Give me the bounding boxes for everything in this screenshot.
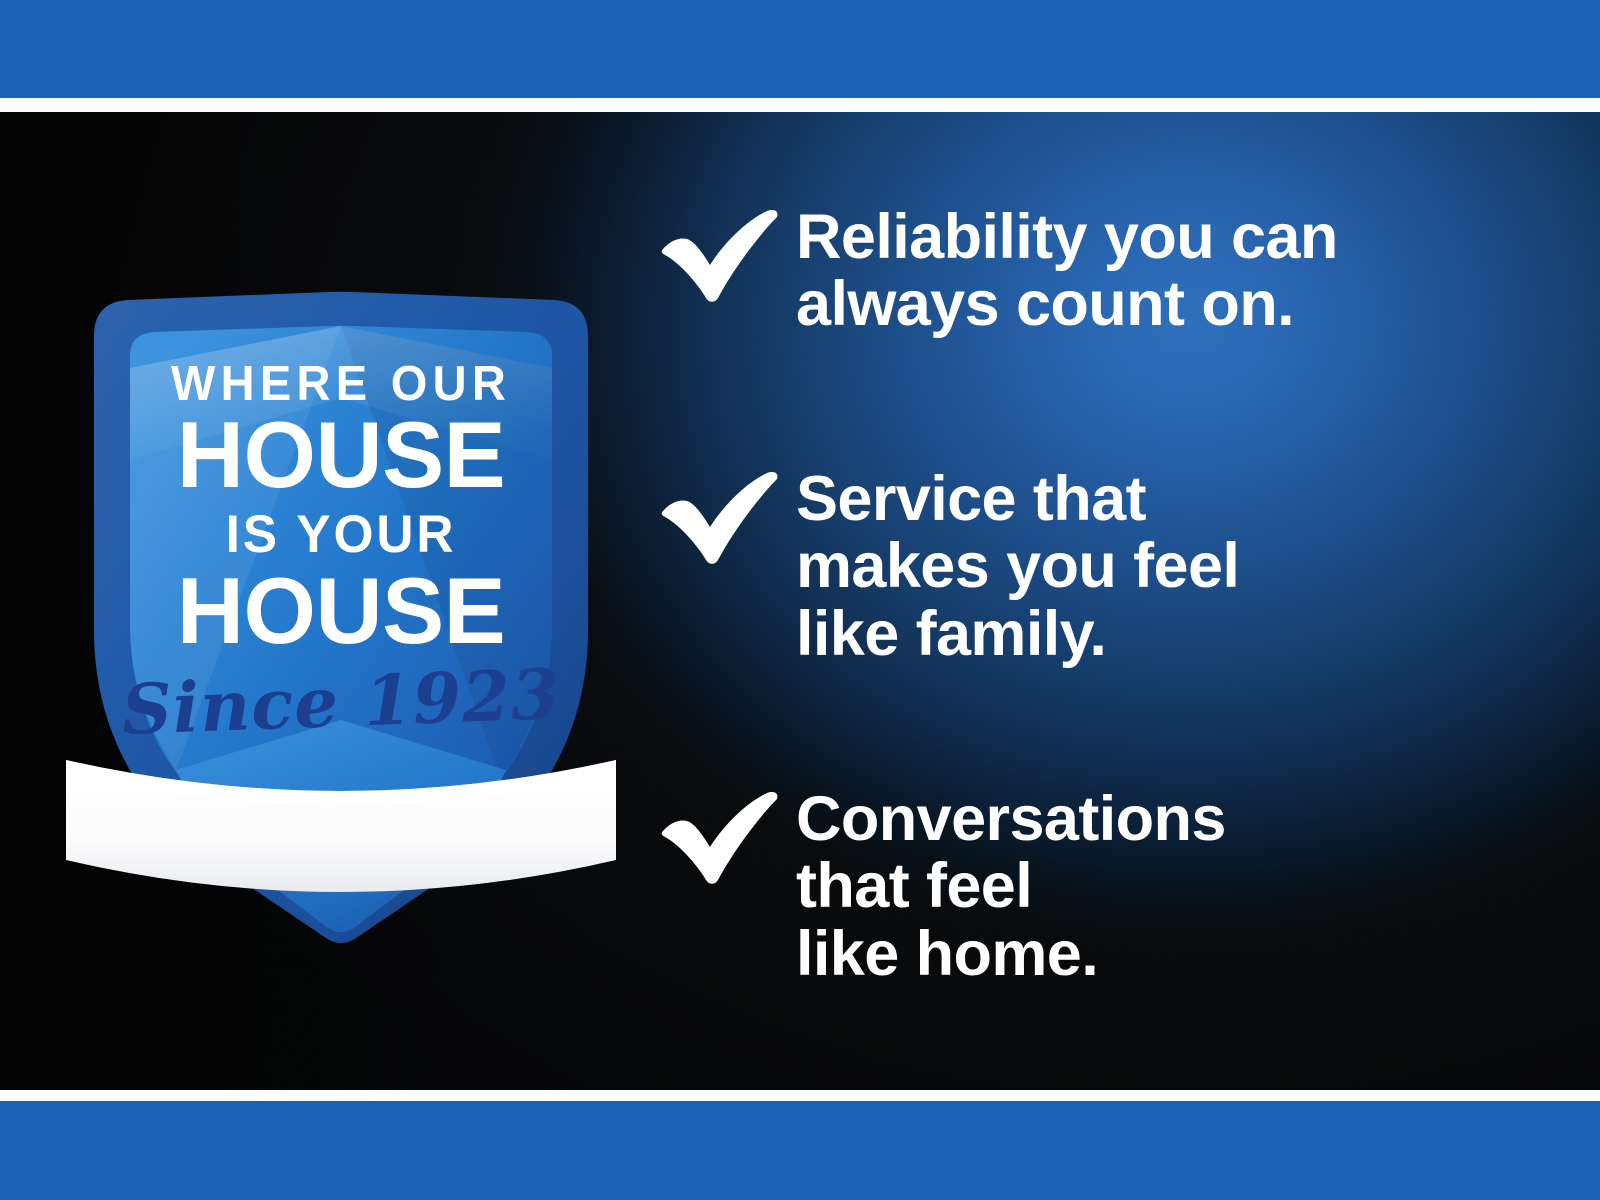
- check-icon: [660, 784, 796, 886]
- benefit-text: Conversations that feel like home.: [796, 784, 1226, 988]
- benefit-text: Reliability you can always count on.: [796, 202, 1338, 339]
- logo-tagline-line-3: IS YOUR: [65, 508, 618, 561]
- logo-tagline-line-2: HOUSE: [59, 408, 623, 502]
- promo-graphic: WHERE OUR HOUSE IS YOUR HOUSE Since 1923…: [0, 0, 1600, 1200]
- check-icon: [660, 464, 796, 566]
- top-divider: [0, 98, 1600, 112]
- benefits-list: Reliability you can always count on. Ser…: [660, 112, 1540, 1090]
- top-brand-bar: [0, 0, 1600, 98]
- benefit-text: Service that makes you feel like family.: [796, 464, 1239, 668]
- shield-emblem-logo: WHERE OUR HOUSE IS YOUR HOUSE Since 1923: [56, 160, 626, 960]
- check-icon: [660, 202, 796, 304]
- benefit-item: Reliability you can always count on.: [660, 202, 1338, 339]
- logo-tagline-line-4: HOUSE: [59, 564, 623, 658]
- benefit-item: Conversations that feel like home.: [660, 784, 1226, 988]
- bottom-brand-bar: [0, 1101, 1600, 1200]
- bottom-divider: [0, 1090, 1600, 1101]
- benefit-item: Service that makes you feel like family.: [660, 464, 1239, 668]
